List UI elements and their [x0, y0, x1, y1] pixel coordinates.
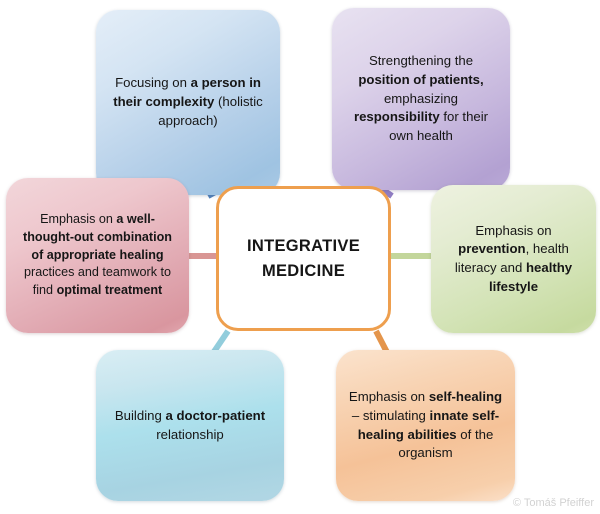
- node-prevention[interactable]: Emphasis on prevention, health literacy …: [431, 185, 596, 333]
- center-node-label: INTEGRATIVEMEDICINE: [231, 234, 376, 284]
- node-doctor-patient-relationship[interactable]: Building a doctor-patient relationship: [96, 350, 284, 501]
- integrative-medicine-diagram: Focusing on a person in their complexity…: [0, 0, 600, 514]
- node-position-of-patients[interactable]: Strengthening the position of patients, …: [332, 8, 510, 190]
- node-position-text: Strengthening the position of patients, …: [344, 52, 498, 146]
- center-label-line2: MEDICINE: [262, 262, 345, 280]
- copyright-credit: © Tomáš Pfeiffer: [513, 497, 594, 509]
- center-node-integrative-medicine[interactable]: INTEGRATIVEMEDICINE: [216, 186, 391, 331]
- node-prevention-text: Emphasis on prevention, health literacy …: [443, 222, 584, 297]
- node-holistic-text: Focusing on a person in their complexity…: [108, 74, 268, 130]
- node-healing-combination[interactable]: Emphasis on a well-thought-out combinati…: [6, 178, 189, 333]
- node-self-healing[interactable]: Emphasis on self-healing – stimulating i…: [336, 350, 515, 501]
- node-combination-text: Emphasis on a well-thought-out combinati…: [18, 211, 177, 300]
- center-label-line1: INTEGRATIVE: [247, 237, 360, 255]
- node-selfhealing-text: Emphasis on self-healing – stimulating i…: [348, 388, 503, 463]
- node-relationship-text: Building a doctor-patient relationship: [108, 407, 272, 444]
- node-holistic-approach[interactable]: Focusing on a person in their complexity…: [96, 10, 280, 195]
